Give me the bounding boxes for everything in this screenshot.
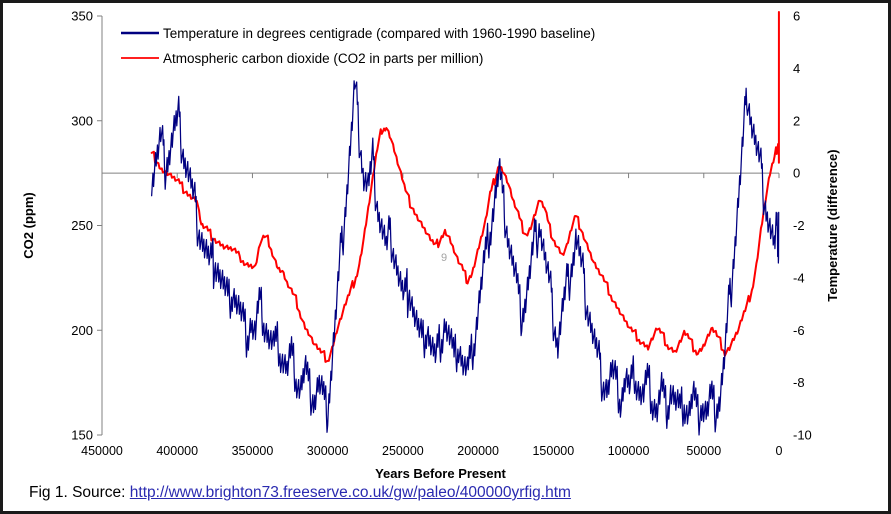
x-axis-tick-label: 150000 xyxy=(532,444,574,458)
y-axis-left-tick-label: 250 xyxy=(71,218,93,233)
figure-caption: Fig 1. Source: http://www.brighton73.fre… xyxy=(29,484,571,502)
x-axis-tick-label: 250000 xyxy=(382,444,424,458)
y-axis-left-title: CO2 (ppm) xyxy=(21,192,36,258)
y-axis-left-tick-label: 300 xyxy=(71,113,93,128)
y-axis-right-tick-label: 4 xyxy=(793,61,800,76)
x-axis-title: Years Before Present xyxy=(375,466,506,481)
x-axis-tick-label: 100000 xyxy=(608,444,650,458)
y-axis-right-tick-label: -8 xyxy=(793,375,805,390)
x-axis-tick-label: 300000 xyxy=(307,444,349,458)
caption-prefix: Fig 1. Source: xyxy=(29,484,130,501)
legend-label-co2: Atmospheric carbon dioxide (CO2 in parts… xyxy=(163,51,483,66)
figure-container: 150200250300350-10-8-6-4-202464500004000… xyxy=(0,0,891,514)
temperature-series-line xyxy=(152,81,779,435)
y-axis-left-tick-label: 150 xyxy=(71,428,93,443)
source-link[interactable]: http://www.brighton73.freeserve.co.uk/gw… xyxy=(130,484,571,501)
x-axis-tick-label: 450000 xyxy=(81,444,123,458)
x-axis-tick-label: 350000 xyxy=(232,444,274,458)
x-axis-tick-label: 400000 xyxy=(156,444,198,458)
climate-chart-svg: 150200250300350-10-8-6-4-202464500004000… xyxy=(3,3,888,481)
y-axis-right-tick-label: -2 xyxy=(793,218,805,233)
x-axis-tick-label: 50000 xyxy=(686,444,721,458)
y-axis-left-tick-label: 350 xyxy=(71,9,93,24)
chart-plot-area: 150200250300350-10-8-6-4-202464500004000… xyxy=(3,3,888,481)
y-axis-right-title: Temperature (difference) xyxy=(825,149,840,301)
y-axis-right-tick-label: 2 xyxy=(793,113,800,128)
y-axis-right-tick-label: 0 xyxy=(793,166,800,181)
plot-artifact-text: 9 xyxy=(441,252,447,264)
legend-label-temperature: Temperature in degrees centigrade (compa… xyxy=(163,26,595,41)
y-axis-left-tick-label: 200 xyxy=(71,323,93,338)
y-axis-right-tick-label: 6 xyxy=(793,9,800,24)
y-axis-right-tick-label: -10 xyxy=(793,428,812,443)
y-axis-right-tick-label: -6 xyxy=(793,323,805,338)
x-axis-tick-label: 200000 xyxy=(457,444,499,458)
y-axis-right-tick-label: -4 xyxy=(793,270,805,285)
x-axis-tick-label: 0 xyxy=(776,444,783,458)
